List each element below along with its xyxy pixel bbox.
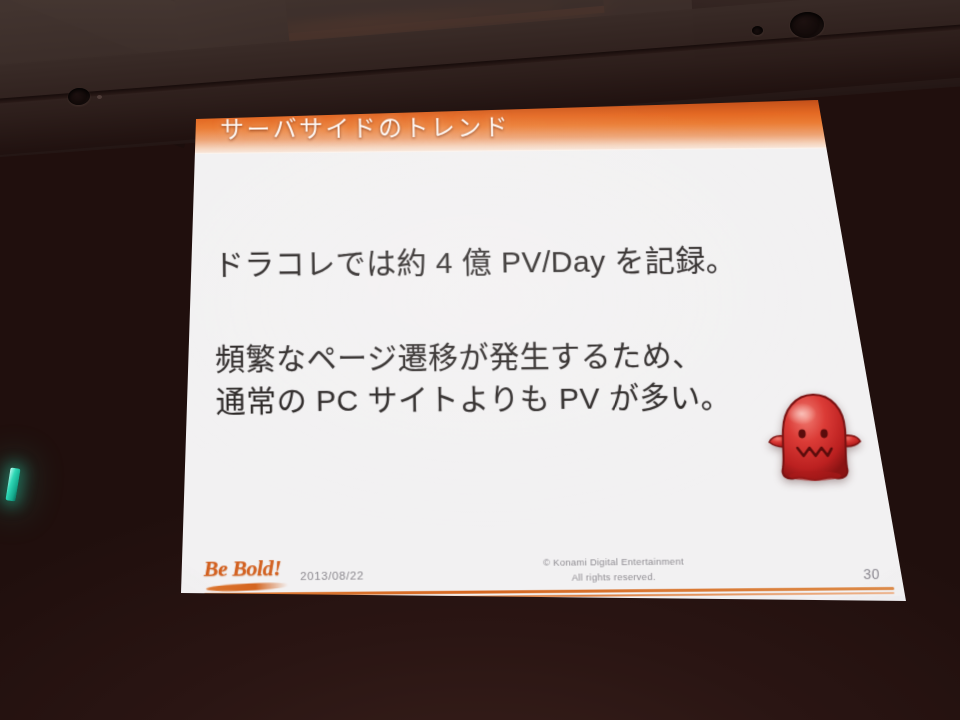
copyright-line-2: All rights reserved.: [364, 569, 863, 588]
ceiling-screw-left-icon: [97, 95, 102, 99]
paragraph-1: ドラコレでは約 4 億 PV/Day を記録。: [214, 239, 869, 287]
be-bold-logo-swoosh: [206, 582, 289, 593]
be-bold-logo-icon: Be Bold!: [204, 557, 291, 592]
footer-copyright: © Konami Digital Entertainment All right…: [364, 554, 864, 588]
slide: サーバサイドのトレンド KDE ドラコレでは約 4 億 PV/Day を記録。 …: [172, 94, 917, 608]
footer-left-group: Be Bold! 2013/08/22: [204, 556, 365, 588]
slide-body: ドラコレでは約 4 億 PV/Day を記録。 頻繁なページ遷移が発生するため、…: [173, 148, 916, 552]
exit-light-icon: [5, 467, 20, 501]
red-slime-mascot-icon: [761, 389, 868, 490]
ceiling-screw-icon: [752, 26, 763, 35]
footer-date: 2013/08/22: [300, 570, 364, 583]
be-bold-logo-text: Be Bold!: [203, 555, 281, 582]
paragraph-1-line-1: ドラコレでは約 4 億 PV/Day を記録。: [214, 245, 737, 282]
page-number: 30: [863, 566, 880, 582]
paragraph-2-line-1: 頻繁なページ遷移が発生するため、: [215, 334, 871, 382]
